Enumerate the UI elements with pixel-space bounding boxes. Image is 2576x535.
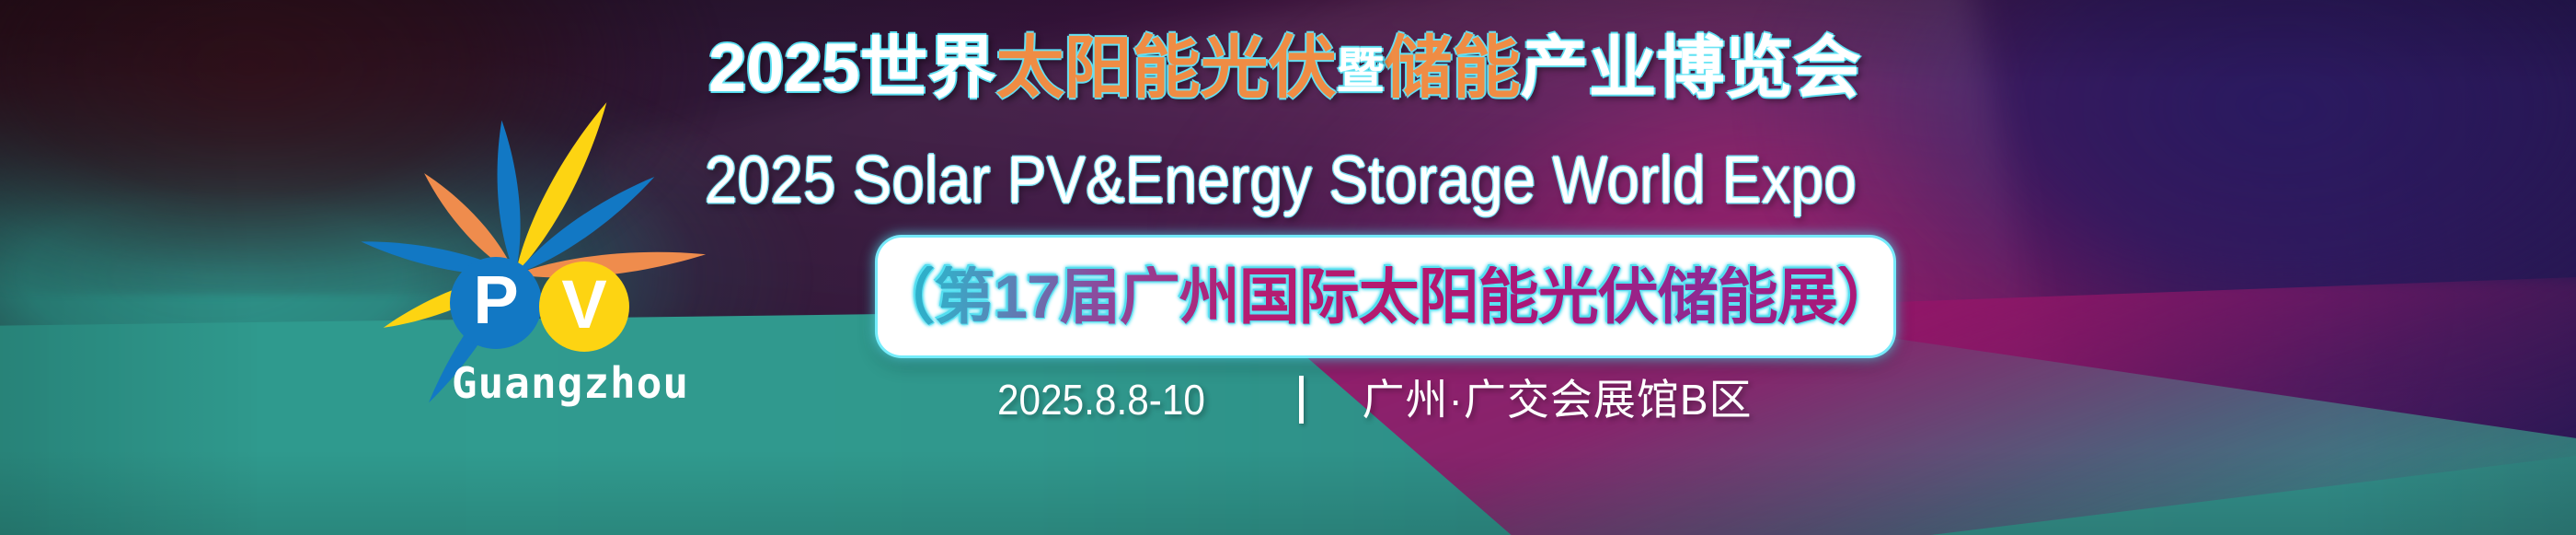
logo-p-letter: P	[473, 262, 518, 338]
title-cn-seg-1: 太阳能光伏	[996, 34, 1337, 102]
event-info-line: 2025.8.8-10 广州·广交会展馆B区	[997, 376, 1753, 424]
subtitle-pill-text: （第17届广州国际太阳能光伏储能展）	[868, 266, 1902, 327]
divider-bar	[1299, 376, 1304, 424]
title-cn-seg-4: 产业博览会	[1521, 34, 1861, 102]
title-english: 2025 Solar PV&Energy Storage World Expo	[705, 147, 1857, 214]
logo-v-letter: V	[561, 266, 606, 343]
title-chinese: 2025世界太阳能光伏暨储能产业博览会	[708, 34, 1861, 102]
event-venue: 广州·广交会展馆B区	[1363, 378, 1753, 421]
expo-banner: P V Guangzhou 2025世界太阳能光伏暨储能产业博览会 2025 S…	[0, 0, 2576, 535]
banner-text-content: 2025世界太阳能光伏暨储能产业博览会 2025 Solar PV&Energy…	[699, 0, 2300, 535]
pv-guangzhou-logo: P V Guangzhou	[324, 48, 710, 435]
title-cn-seg-0: 2025世界	[708, 34, 996, 102]
title-cn-seg-2: 暨	[1337, 48, 1385, 96]
title-cn-seg-3: 储能	[1385, 34, 1521, 102]
logo-wordmark: Guangzhou	[452, 358, 689, 408]
event-date: 2025.8.8-10	[997, 378, 1205, 421]
subtitle-pill: （第17届广州国际太阳能光伏储能展）	[878, 238, 1893, 355]
